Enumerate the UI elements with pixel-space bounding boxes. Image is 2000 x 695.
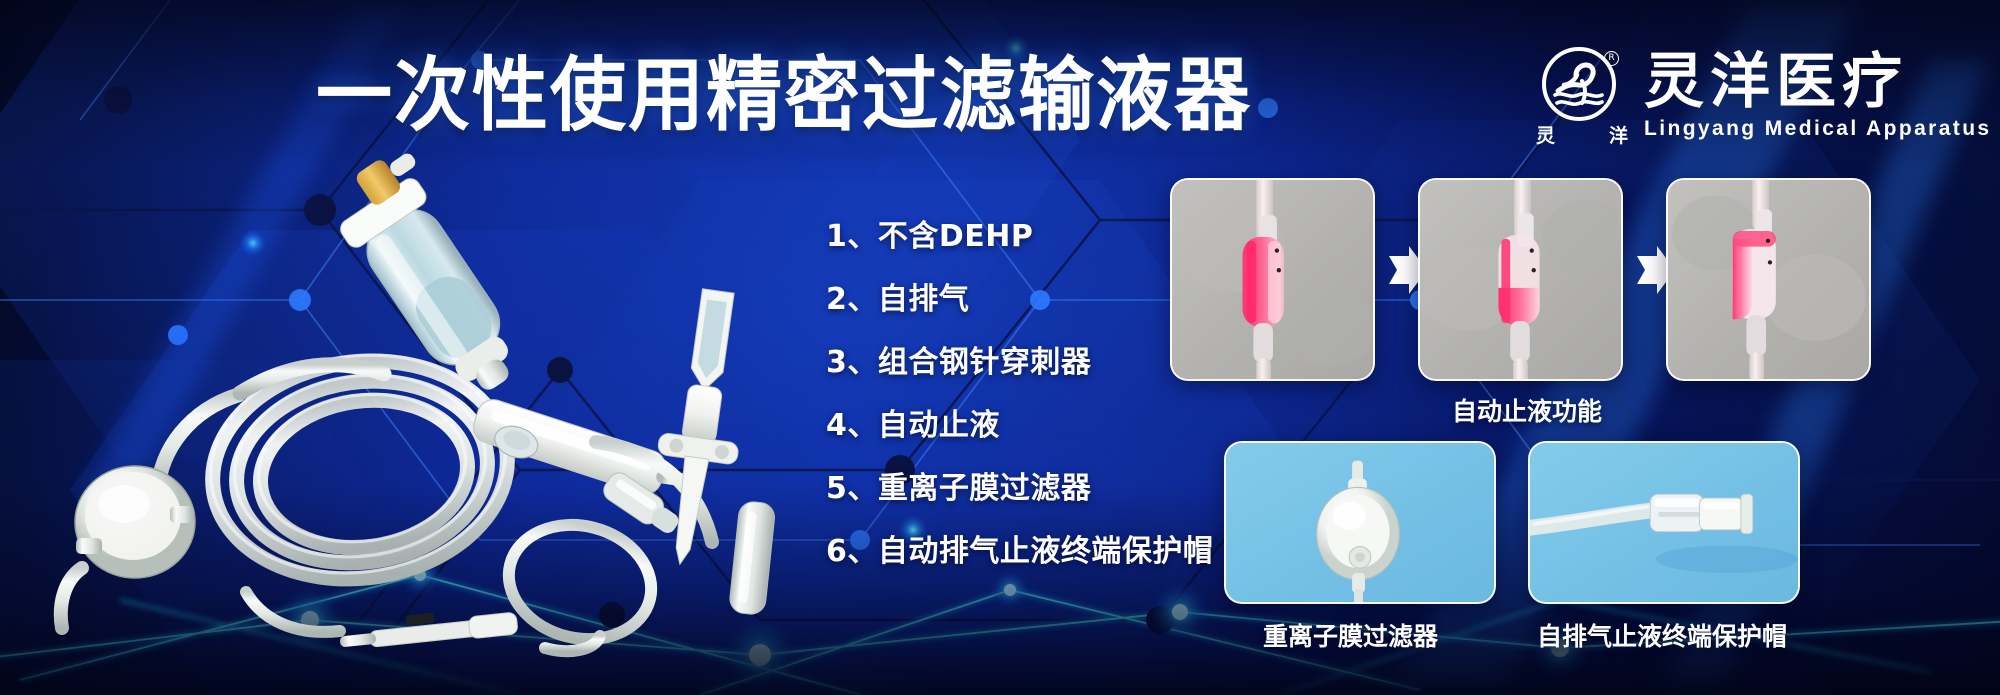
drip-chamber-stopped-icon [1668,180,1869,379]
feature-item-4: 4、自动止液 [826,411,1213,441]
sequence-photo-3 [1666,178,1871,381]
detail-photo-terminal-cap [1528,441,1800,604]
sequence-photo-2 [1418,178,1623,381]
logo-mark-subtext: 灵 洋 [1536,121,1628,148]
product-banner: 一次性使用精密过滤输液器 R 灵 洋 灵洋医疗 Lingyang Medical… [0,0,2000,695]
logo-wave-dolphin-icon [1546,51,1612,117]
feature-item-3: 3、组合钢针穿刺器 [826,348,1213,378]
feature-item-6: 6、自动排气止液终端保护帽 [826,537,1213,567]
logo-mark-char-left: 灵 [1536,121,1555,148]
registered-trademark-icon: R [1604,51,1619,66]
detail-caption-terminal-cap: 自排气止液终端保护帽 [1537,623,1787,651]
logo-wordmark: 灵洋医疗 Lingyang Medical Apparatus [1644,50,1992,142]
brand-name-en: Lingyang Medical Apparatus [1644,116,1992,142]
feature-item-1: 1、不含DEHP [826,222,1213,252]
feature-list: 1、不含DEHP 2、自排气 3、组合钢针穿刺器 4、自动止液 5、重离子膜过滤… [826,222,1213,567]
detail-caption-membrane-filter: 重离子膜过滤器 [1263,623,1438,651]
logo-mark: R 灵 洋 [1536,47,1628,145]
banner-title: 一次性使用精密过滤输液器 [316,50,1252,141]
logo-mark-char-right: 洋 [1609,121,1628,148]
membrane-filter-icon [1226,443,1494,604]
sequence-caption: 自动止液功能 [1452,398,1602,426]
sequence-photo-1 [1170,178,1375,381]
brand-logo: R 灵 洋 灵洋医疗 Lingyang Medical Apparatus [1536,47,1992,145]
terminal-protective-cap-icon [1530,443,1798,604]
drip-chamber-half-icon [1420,180,1621,379]
brand-name-cn: 灵洋医疗 [1644,50,1992,114]
feature-item-2: 2、自排气 [826,285,1213,315]
drip-chamber-full-icon [1172,180,1373,379]
feature-item-5: 5、重离子膜过滤器 [826,474,1213,504]
detail-photo-membrane-filter [1224,441,1496,604]
product-photo-infusion-set [40,150,830,680]
